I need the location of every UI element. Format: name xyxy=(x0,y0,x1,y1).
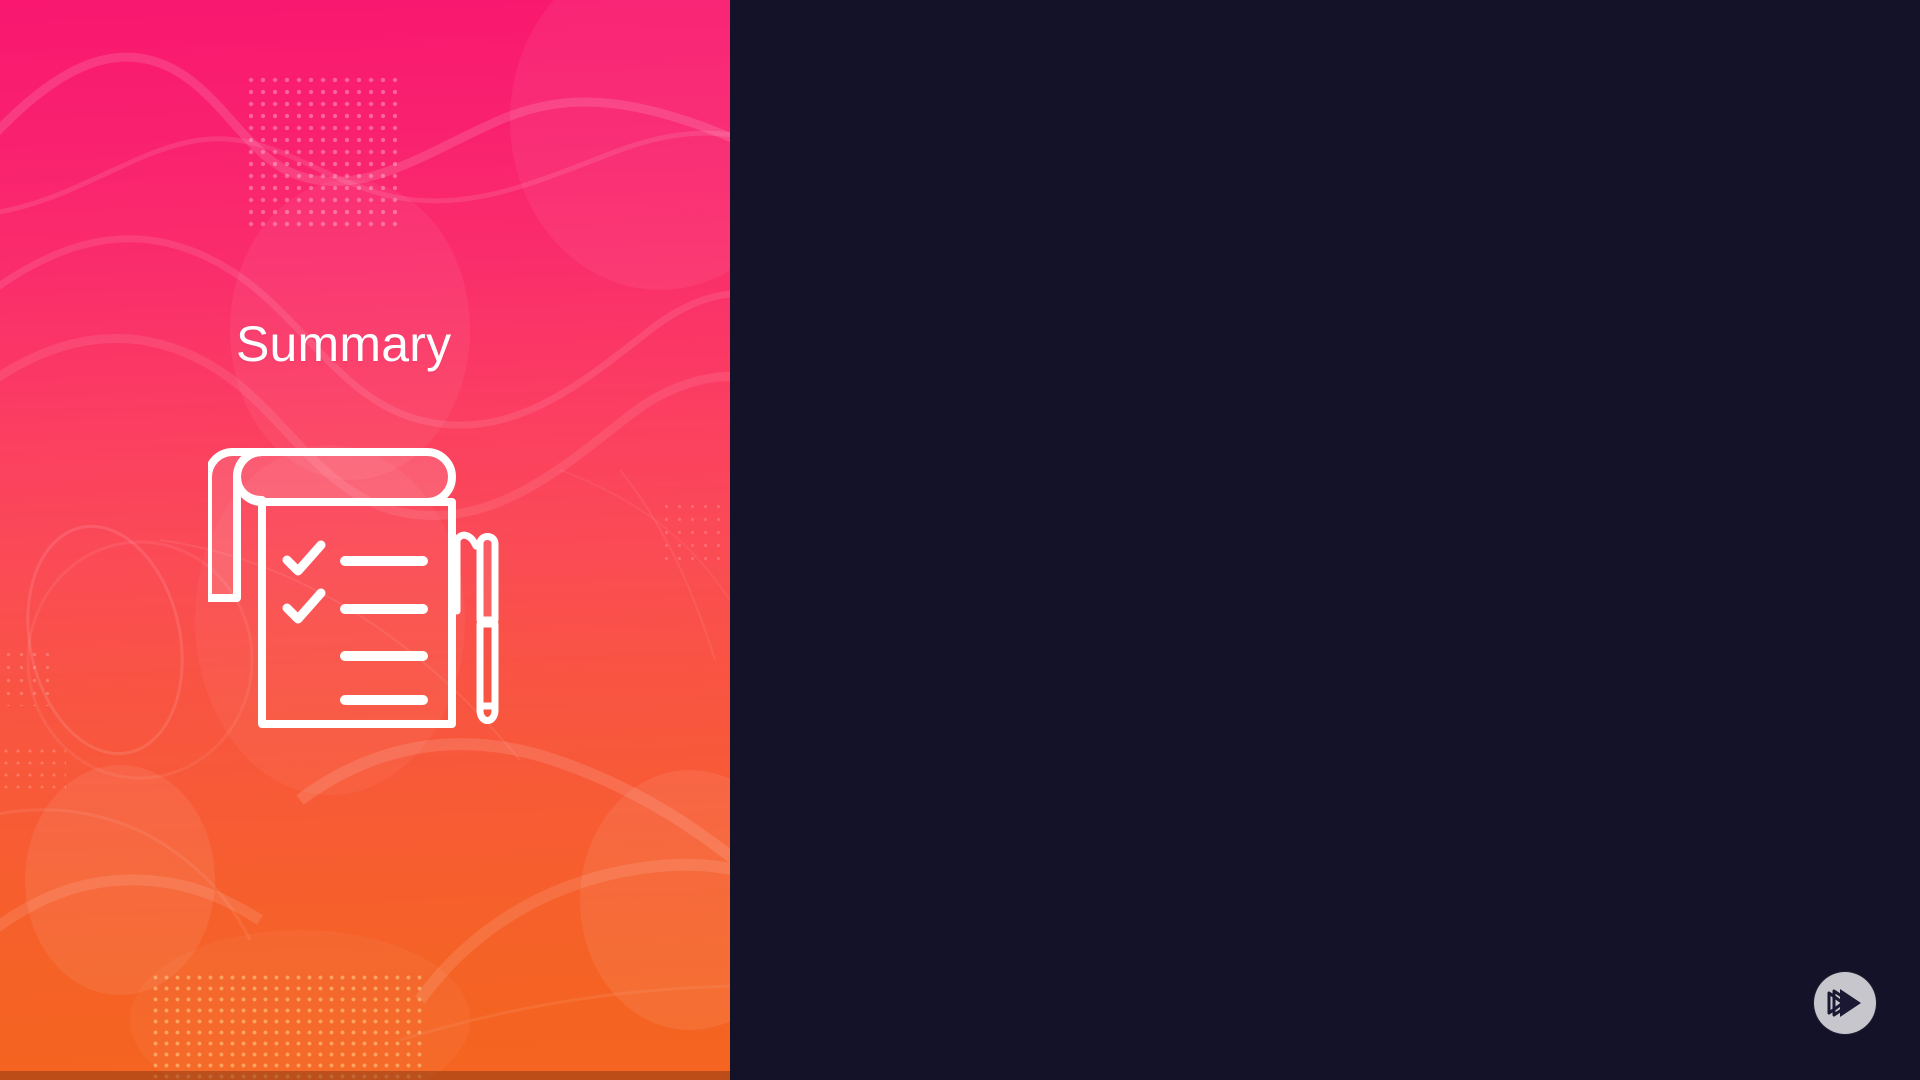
play-triangle-icon xyxy=(1827,986,1863,1020)
slide-stage: Summary xyxy=(0,0,1920,1080)
accent-panel: Summary xyxy=(0,0,730,1080)
halftone-pattern-right xyxy=(660,500,730,570)
slide-title: Summary xyxy=(236,316,451,374)
panel-bottom-edge xyxy=(0,1071,730,1080)
play-button[interactable] xyxy=(1814,972,1876,1034)
scroll-checklist-icon xyxy=(208,448,518,740)
halftone-pattern-bottom xyxy=(150,972,422,1080)
halftone-pattern-left-b xyxy=(0,745,66,797)
halftone-pattern-top xyxy=(245,74,397,232)
halftone-pattern-left-a xyxy=(2,648,58,706)
slide-content-canvas xyxy=(730,0,1920,1080)
